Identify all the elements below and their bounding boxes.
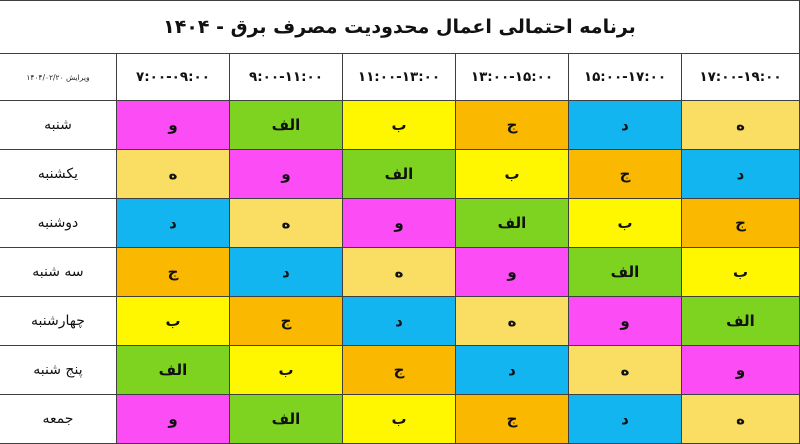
cell-thursday-15-17: ه [569,346,682,395]
cell-friday-11-13: ب [343,395,456,444]
cell-tuesday-11-13: ه [343,248,456,297]
day-label-sunday: یکشنبه [0,150,117,199]
page-title: برنامه احتمالی اعمال محدودیت مصرف برق - … [0,1,800,54]
table-row: د ج ب الف و ه یکشنبه [0,150,800,199]
table-row: ب الف و ه د ج سه شنبه [0,248,800,297]
cell-monday-13-15: الف [456,199,569,248]
cell-wednesday-11-13: د [343,297,456,346]
cell-wednesday-9-11: ج [230,297,343,346]
time-header-17-19: ۱۷:۰۰-۱۹:۰۰ [682,54,800,101]
cell-saturday-13-15: ج [456,101,569,150]
cell-sunday-15-17: ج [569,150,682,199]
cell-saturday-7-9: و [117,101,230,150]
cell-monday-9-11: ه [230,199,343,248]
cell-saturday-11-13: ب [343,101,456,150]
cell-saturday-17-19: ه [682,101,800,150]
cell-friday-7-9: و [117,395,230,444]
revision-label: ویرایش ۱۴۰۴/۰۲/۲۰ [0,54,117,101]
cell-saturday-9-11: الف [230,101,343,150]
cell-monday-11-13: و [343,199,456,248]
day-label-tuesday: سه شنبه [0,248,117,297]
table-row: ج ب الف و ه د دوشنبه [0,199,800,248]
time-header-15-17: ۱۵:۰۰-۱۷:۰۰ [569,54,682,101]
outage-schedule-table: برنامه احتمالی اعمال محدودیت مصرف برق - … [0,0,800,444]
day-label-wednesday: چهارشنبه [0,297,117,346]
schedule-sheet: برنامه احتمالی اعمال محدودیت مصرف برق - … [0,0,800,441]
cell-monday-7-9: د [117,199,230,248]
cell-thursday-17-19: و [682,346,800,395]
cell-tuesday-9-11: د [230,248,343,297]
day-label-monday: دوشنبه [0,199,117,248]
cell-sunday-11-13: الف [343,150,456,199]
time-header-9-11: ۹:۰۰-۱۱:۰۰ [230,54,343,101]
table-row: ه د ج ب الف و شنبه [0,101,800,150]
cell-friday-13-15: ج [456,395,569,444]
cell-sunday-7-9: ه [117,150,230,199]
cell-sunday-9-11: و [230,150,343,199]
header-row: ۱۷:۰۰-۱۹:۰۰ ۱۵:۰۰-۱۷:۰۰ ۱۳:۰۰-۱۵:۰۰ ۱۱:۰… [0,54,800,101]
day-label-thursday: پنج شنبه [0,346,117,395]
cell-saturday-15-17: د [569,101,682,150]
cell-wednesday-13-15: ه [456,297,569,346]
cell-sunday-17-19: د [682,150,800,199]
cell-monday-15-17: ب [569,199,682,248]
day-label-saturday: شنبه [0,101,117,150]
table-row: و ه د ج ب الف پنج شنبه [0,346,800,395]
cell-tuesday-15-17: الف [569,248,682,297]
cell-thursday-7-9: الف [117,346,230,395]
cell-tuesday-17-19: ب [682,248,800,297]
time-header-13-15: ۱۳:۰۰-۱۵:۰۰ [456,54,569,101]
cell-friday-9-11: الف [230,395,343,444]
cell-thursday-13-15: د [456,346,569,395]
title-row: برنامه احتمالی اعمال محدودیت مصرف برق - … [0,1,800,54]
cell-wednesday-15-17: و [569,297,682,346]
time-header-7-9: ۷:۰۰-۰۹:۰۰ [117,54,230,101]
cell-monday-17-19: ج [682,199,800,248]
table-row: الف و ه د ج ب چهارشنبه [0,297,800,346]
cell-friday-17-19: ه [682,395,800,444]
time-header-11-13: ۱۱:۰۰-۱۳:۰۰ [343,54,456,101]
cell-friday-15-17: د [569,395,682,444]
cell-thursday-11-13: ج [343,346,456,395]
schedule-body: برنامه احتمالی اعمال محدودیت مصرف برق - … [0,1,800,444]
cell-wednesday-7-9: ب [117,297,230,346]
cell-sunday-13-15: ب [456,150,569,199]
cell-tuesday-13-15: و [456,248,569,297]
cell-thursday-9-11: ب [230,346,343,395]
table-row: ه د ج ب الف و جمعه [0,395,800,444]
cell-tuesday-7-9: ج [117,248,230,297]
cell-wednesday-17-19: الف [682,297,800,346]
day-label-friday: جمعه [0,395,117,444]
